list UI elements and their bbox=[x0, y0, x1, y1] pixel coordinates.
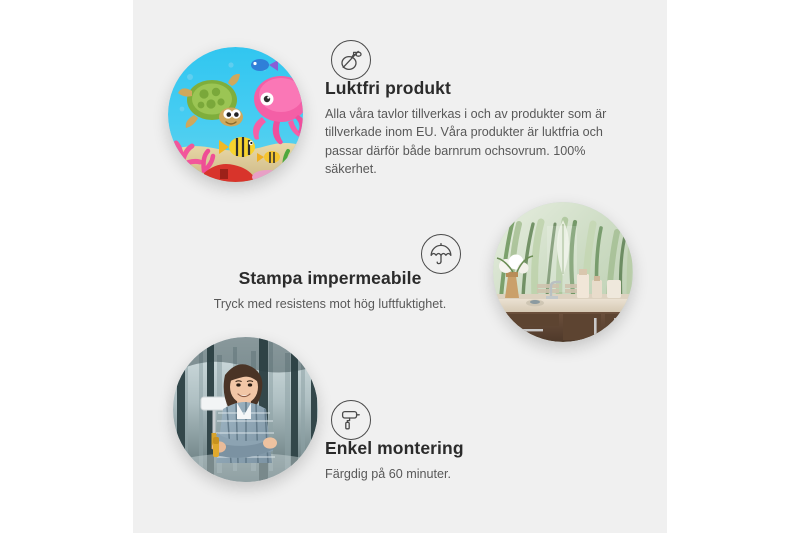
perfume-bottle-glyph bbox=[338, 47, 364, 73]
feature-panel: Luktfri produkt Alla våra tavlor tillver… bbox=[133, 0, 667, 533]
umbrella-glyph bbox=[428, 241, 454, 267]
icon-wrap-odorless bbox=[331, 40, 371, 80]
underwater-scene-art bbox=[168, 47, 303, 182]
text-odorless: Luktfri produkt Alla våra tavlor tillver… bbox=[325, 78, 625, 179]
text-easy-install: Enkel montering Färgdig på 60 minuter. bbox=[325, 438, 625, 483]
no-odor-perfume-bottle-icon bbox=[331, 40, 371, 80]
photo-woman-with-paint-roller bbox=[173, 337, 318, 482]
feature-title: Enkel montering bbox=[325, 438, 625, 460]
feature-title: Stampa impermeabile bbox=[195, 268, 465, 290]
bathroom-scene-art bbox=[493, 202, 633, 342]
feature-title: Luktfri produkt bbox=[325, 78, 625, 100]
paint-roller-icon bbox=[331, 400, 371, 440]
text-waterproof: Stampa impermeabile Tryck med resistens … bbox=[195, 268, 465, 313]
icon-wrap-easy-install bbox=[331, 400, 371, 440]
photo-underwater-kids-mural bbox=[168, 47, 303, 182]
product-feature-infographic: Luktfri produkt Alla våra tavlor tillver… bbox=[0, 0, 800, 533]
feature-body: Färgdig på 60 minuter. bbox=[325, 465, 625, 484]
feature-body: Alla våra tavlor tillverkas i och av pro… bbox=[325, 105, 625, 179]
feature-body: Tryck med resistens mot hög luftfuktighe… bbox=[195, 295, 465, 314]
forest-woman-art bbox=[173, 337, 318, 482]
paint-roller-glyph bbox=[338, 407, 364, 433]
photo-bathroom-tropical-wallpaper bbox=[493, 202, 633, 342]
